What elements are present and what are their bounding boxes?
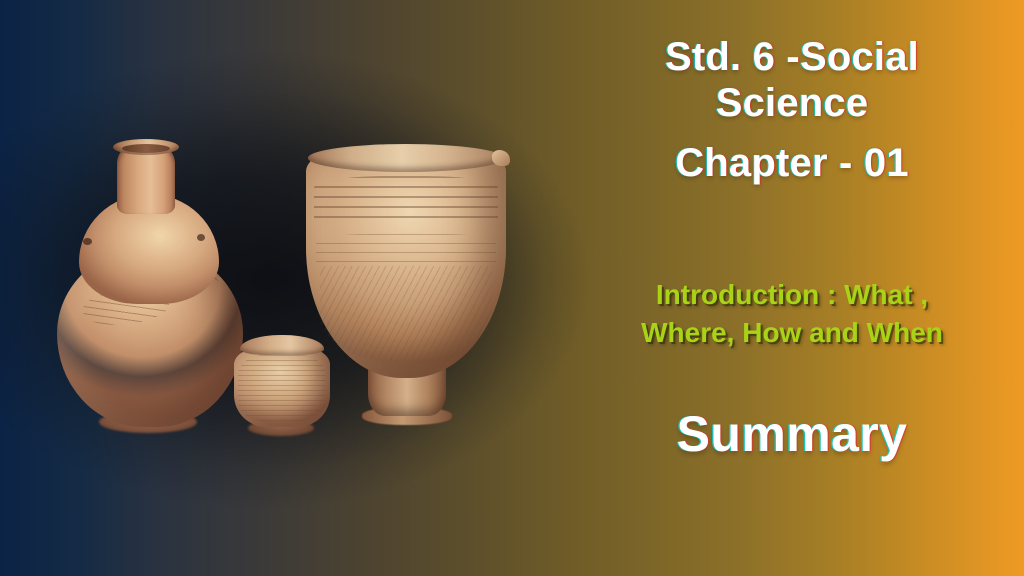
urn-mouth (308, 144, 504, 172)
summary-heading-block: Summary (560, 405, 1024, 463)
title-line-3: Chapter - 01 (560, 140, 1024, 186)
summary-heading: Summary (560, 405, 1024, 463)
urn-incised-bands (314, 176, 498, 222)
subtitle-line-2: Where, How and When (560, 314, 1024, 352)
urn-rim-chip (492, 150, 510, 166)
title-line-1: Std. 6 -Social (560, 34, 1024, 80)
pottery-vessel-urn (306, 148, 506, 423)
slide-text-panel: Std. 6 -Social Science Chapter - 01 Intr… (560, 0, 1024, 576)
jar-opening (122, 144, 170, 153)
pottery-vessel-large-jar (55, 142, 245, 427)
subtitle-line-1: Introduction : What , (560, 276, 1024, 314)
urn-lower-bands (316, 234, 496, 264)
slide-title: Std. 6 -Social Science Chapter - 01 (560, 34, 1024, 186)
title-line-2: Science (560, 80, 1024, 126)
pottery-photograph (0, 0, 580, 576)
urn-hatched-texture (320, 266, 492, 362)
slide-subtitle: Introduction : What , Where, How and Whe… (560, 276, 1024, 352)
presentation-slide: Std. 6 -Social Science Chapter - 01 Intr… (0, 0, 1024, 576)
jar-dimple-left (83, 238, 92, 245)
jar-dimple-right (197, 234, 205, 241)
